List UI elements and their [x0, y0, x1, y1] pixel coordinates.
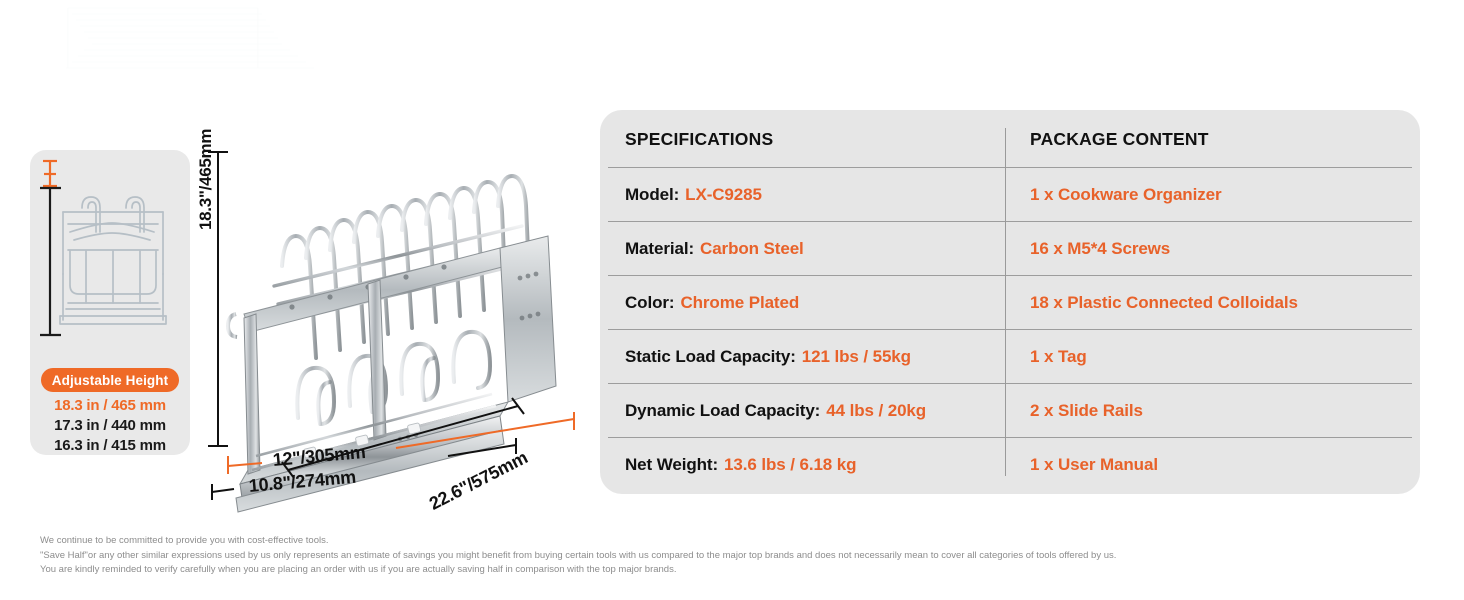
spec-value: 13.6 lbs / 6.18 kg — [724, 455, 856, 475]
height-option: 18.3 in / 465 mm — [30, 396, 190, 416]
disclaimer-text: We continue to be committed to provide y… — [40, 534, 1440, 578]
specifications-column: SPECIFICATIONS Model: LX-C9285 Material:… — [600, 110, 1005, 494]
spec-row-material: Material: Carbon Steel — [600, 222, 1005, 276]
package-row-colloidals: 18 x Plastic Connected Colloidals — [1006, 276, 1420, 330]
spec-row-dynamic-load: Dynamic Load Capacity: 44 lbs / 20kg — [600, 384, 1005, 438]
package-row-organizer: 1 x Cookware Organizer — [1006, 168, 1420, 222]
product-image-with-dimensions: 18.3"/465mm 12"/305mm 10.8"/274mm 22.6"/… — [200, 118, 600, 528]
disclaimer-line: "Save Half"or any other similar expressi… — [40, 549, 1440, 564]
package-header-row: PACKAGE CONTENT — [1006, 110, 1420, 168]
adjustable-height-badge: Adjustable Height — [41, 368, 179, 392]
package-item: 1 x Cookware Organizer — [1030, 185, 1221, 205]
disclaimer-line: We continue to be committed to provide y… — [40, 534, 1440, 549]
adjustable-height-card: Adjustable Height 18.3 in / 465 mm 17.3 … — [30, 150, 190, 455]
spec-key: Dynamic Load Capacity: — [625, 401, 820, 421]
spec-value: LX-C9285 — [685, 185, 762, 205]
package-content-column: PACKAGE CONTENT 1 x Cookware Organizer 1… — [1006, 110, 1420, 494]
height-option: 16.3 in / 415 mm — [30, 436, 190, 456]
spec-row-model: Model: LX-C9285 — [600, 168, 1005, 222]
package-item: 16 x M5*4 Screws — [1030, 239, 1170, 259]
spec-value: Carbon Steel — [700, 239, 804, 259]
spec-key: Net Weight: — [625, 455, 718, 475]
spec-key: Static Load Capacity: — [625, 347, 796, 367]
package-item: 1 x User Manual — [1030, 455, 1158, 475]
spec-row-color: Color: Chrome Plated — [600, 276, 1005, 330]
package-row-slide-rails: 2 x Slide Rails — [1006, 384, 1420, 438]
disclaimer-line: You are kindly reminded to verify carefu… — [40, 563, 1440, 578]
dimension-label-height: 18.3"/465mm — [196, 129, 216, 230]
package-item: 1 x Tag — [1030, 347, 1087, 367]
package-item: 2 x Slide Rails — [1030, 401, 1143, 421]
dimension-leader-lines — [200, 118, 600, 528]
spec-row-net-weight: Net Weight: 13.6 lbs / 6.18 kg — [600, 438, 1005, 492]
spec-key: Color: — [625, 293, 674, 313]
spec-value: Chrome Plated — [680, 293, 799, 313]
spec-row-static-load: Static Load Capacity: 121 lbs / 55kg — [600, 330, 1005, 384]
package-row-tag: 1 x Tag — [1006, 330, 1420, 384]
package-item: 18 x Plastic Connected Colloidals — [1030, 293, 1298, 313]
total-height-dimension-bar — [40, 188, 61, 335]
spec-value: 44 lbs / 20kg — [826, 401, 926, 421]
height-options-list: 18.3 in / 465 mm 17.3 in / 440 mm 16.3 i… — [30, 396, 190, 456]
specifications-header: SPECIFICATIONS — [625, 129, 773, 150]
spec-key: Model: — [625, 185, 679, 205]
package-row-user-manual: 1 x User Manual — [1006, 438, 1420, 492]
package-row-screws: 16 x M5*4 Screws — [1006, 222, 1420, 276]
rack-line-art — [60, 197, 166, 324]
watermark-ghost-image — [58, 2, 328, 74]
height-diagram — [30, 150, 190, 365]
specifications-panel: SPECIFICATIONS Model: LX-C9285 Material:… — [600, 110, 1420, 494]
package-content-header: PACKAGE CONTENT — [1030, 129, 1209, 150]
spec-header-row: SPECIFICATIONS — [600, 110, 1005, 168]
spec-key: Material: — [625, 239, 694, 259]
adjust-range-arrow-icon — [43, 161, 57, 186]
height-option: 17.3 in / 440 mm — [30, 416, 190, 436]
spec-value: 121 lbs / 55kg — [802, 347, 911, 367]
